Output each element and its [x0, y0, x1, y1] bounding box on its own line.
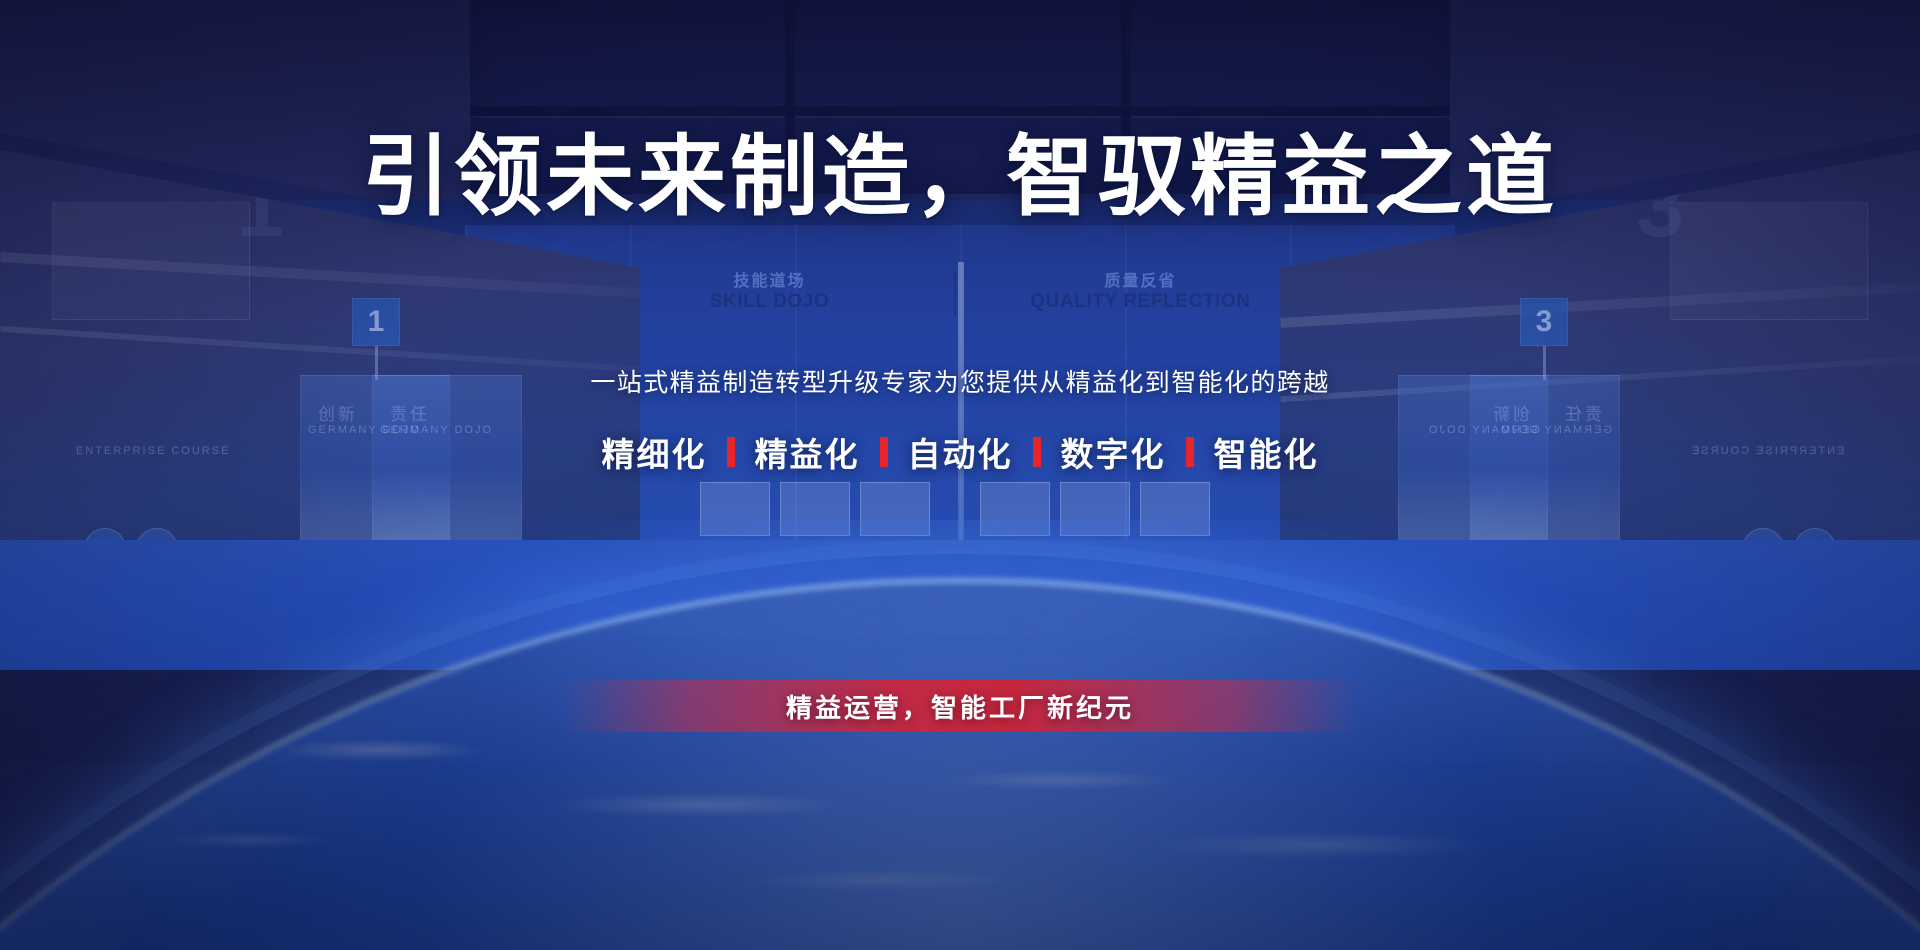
keyword-item: 智能化 [1214, 428, 1319, 476]
tagline-ribbon: 精益运营，智能工厂新纪元 [560, 680, 1360, 732]
keyword-item: 精益化 [755, 428, 860, 476]
keyword-item: 数字化 [1061, 428, 1166, 476]
keyword-item: 自动化 [908, 428, 1013, 476]
hero-subtitle: 一站式精益制造转型升级专家为您提供从精益化到智能化的跨越 [0, 363, 1920, 399]
ribbon-label: 精益运营，智能工厂新纪元 [786, 688, 1134, 725]
keyword-list: 精细化 精益化 自动化 数字化 智能化 [0, 428, 1920, 476]
keyword-item: 精细化 [602, 428, 707, 476]
hero-content: 引领未来制造，智驭精益之道 一站式精益制造转型升级专家为您提供从精益化到智能化的… [0, 0, 1920, 950]
keyword-separator-icon [880, 437, 888, 467]
keyword-separator-icon [727, 437, 735, 467]
keyword-separator-icon [1033, 437, 1041, 467]
hero-banner: ENTERPRISE COURSE 1 ENTERPRISE COURSE 3 … [0, 0, 1920, 950]
page-title: 引领未来制造，智驭精益之道 [0, 131, 1920, 223]
keyword-separator-icon [1186, 437, 1194, 467]
